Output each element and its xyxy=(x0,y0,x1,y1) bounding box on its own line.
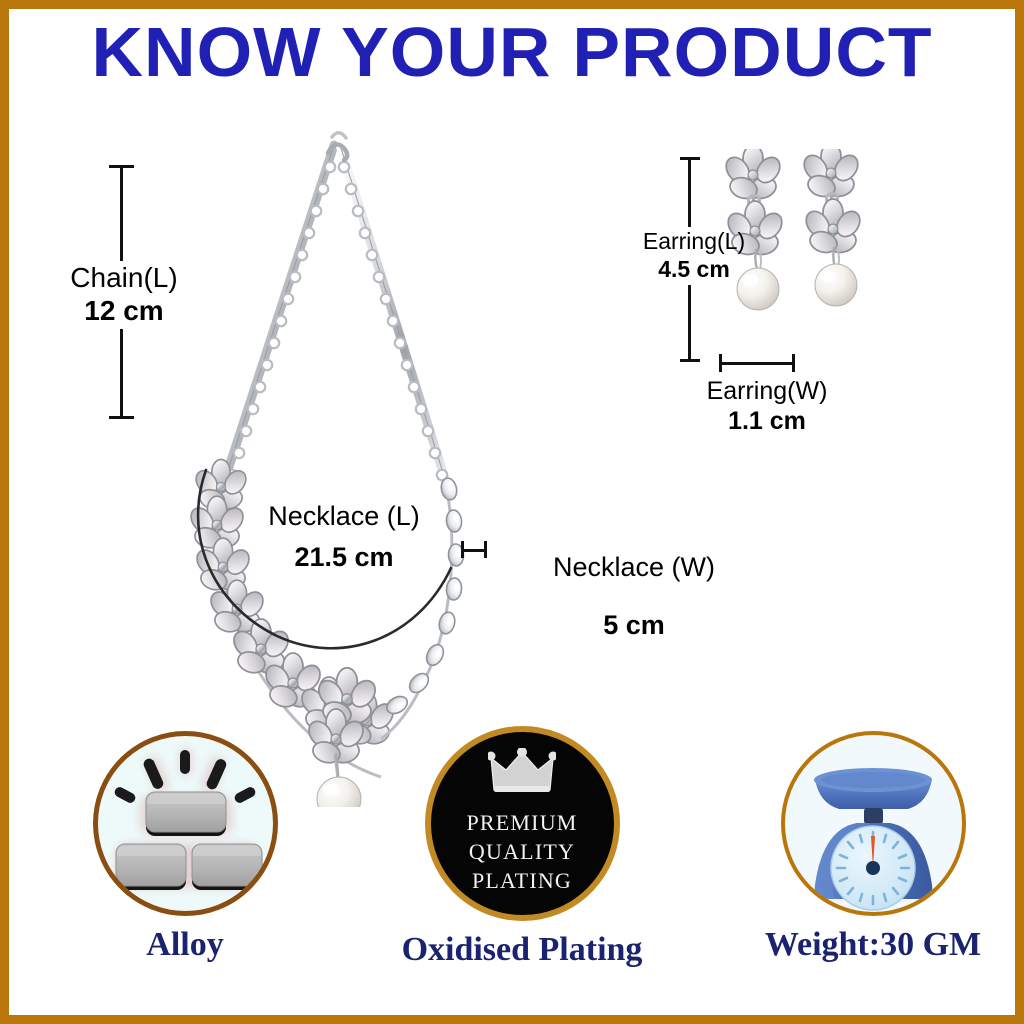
chain-length-label: Chain(L) xyxy=(29,262,219,294)
earring-length-value: 4.5 cm xyxy=(619,256,769,283)
alloy-badge-circle xyxy=(93,731,278,916)
earring-length-label: Earring(L) xyxy=(619,228,769,255)
weight-label: Weight:30 GM xyxy=(723,926,1023,964)
weight-badge-circle xyxy=(781,731,966,916)
earring-length-line-upper xyxy=(688,157,691,227)
necklace-width-cap-right xyxy=(484,541,487,558)
chain-length-value: 12 cm xyxy=(29,295,219,327)
kitchen-scale-icon xyxy=(785,735,962,912)
page-title: KNOW YOUR PRODUCT xyxy=(0,15,1024,89)
earring-length-line-lower xyxy=(688,285,691,361)
necklace-width-cap-left xyxy=(461,541,464,558)
chain-dim-line-upper xyxy=(120,165,123,261)
chain-dim-cap-bottom xyxy=(109,416,134,419)
seal-line-2: QUALITY xyxy=(431,837,614,866)
seal-line-1: PREMIUM xyxy=(431,808,614,837)
metal-ingots-icon xyxy=(98,736,273,911)
earring-width-cap-right xyxy=(792,354,795,372)
feature-weight: Weight:30 GM xyxy=(723,731,1023,964)
plating-badge-circle: PREMIUM QUALITY PLATING xyxy=(425,726,620,921)
chain-dim-line-lower xyxy=(120,329,123,419)
earring-width-cap-left xyxy=(719,354,722,372)
seal-line-3: PLATING xyxy=(431,866,614,895)
premium-seal-text: PREMIUM QUALITY PLATING xyxy=(431,808,614,895)
plating-label: Oxidised Plating xyxy=(372,931,672,969)
necklace-length-value: 21.5 cm xyxy=(229,542,459,573)
earring-length-cap-bottom xyxy=(680,359,700,362)
earring-width-value: 1.1 cm xyxy=(677,407,857,436)
earring-width-label: Earring(W) xyxy=(677,377,857,406)
necklace-width-label: Necklace (W) xyxy=(509,552,759,583)
alloy-label: Alloy xyxy=(35,926,335,964)
infographic-page: KNOW YOUR PRODUCT xyxy=(0,0,1024,1024)
necklace-length-label: Necklace (L) xyxy=(229,501,459,532)
necklace-width-value: 5 cm xyxy=(509,610,759,641)
feature-alloy: Alloy xyxy=(35,731,335,964)
earring-width-line xyxy=(719,362,795,365)
crown-icon xyxy=(488,748,556,794)
feature-plating: PREMIUM QUALITY PLATING Oxidised Plating xyxy=(372,726,672,969)
